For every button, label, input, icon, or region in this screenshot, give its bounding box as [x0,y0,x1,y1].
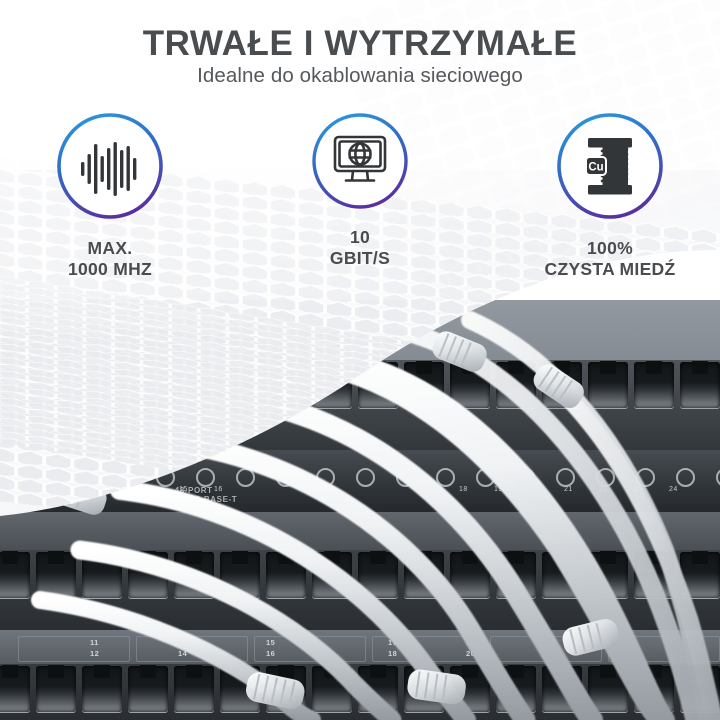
feature-label-frequency: MAX. 1000 MHZ [68,238,152,280]
feature-item-speed: 10 GBIT/S [280,110,440,269]
promo-banner: 48-PORT 10/100/1000 BASE-T 10 11 12 13 1… [0,0,720,720]
feature-item-copper: Cu 100% CZYSTA MIEDŹ [530,110,690,280]
feature-label-speed: 10 GBIT/S [330,227,390,269]
copper-spool-icon: Cu [554,110,666,222]
feature-label-line2: CZYSTA MIEDŹ [545,259,676,280]
header-section: TRWAŁE I WYTRZYMAŁE Idealne do okablowan… [0,0,720,300]
feature-label-line1: 100% [545,238,676,259]
monitor-globe-icon [309,110,411,212]
page-title: TRWAŁE I WYTRZYMAŁE [0,24,720,64]
feature-icon-circle: Cu [554,110,666,222]
feature-label-copper: 100% CZYSTA MIEDŹ [545,238,676,280]
copper-symbol-badge: Cu [588,162,603,174]
feature-label-line2: GBIT/S [330,248,390,269]
feature-item-frequency: MAX. 1000 MHZ [30,110,190,280]
sound-wave-icon [54,110,166,222]
feature-icon-circle [54,110,166,222]
feature-label-line1: 10 [330,227,390,248]
feature-list: MAX. 1000 MHZ [0,110,720,280]
feature-label-line2: 1000 MHZ [68,259,152,280]
feature-label-line1: MAX. [68,238,152,259]
feature-icon-circle [309,110,411,212]
page-subtitle: Idealne do okablowania sieciowego [0,64,720,88]
